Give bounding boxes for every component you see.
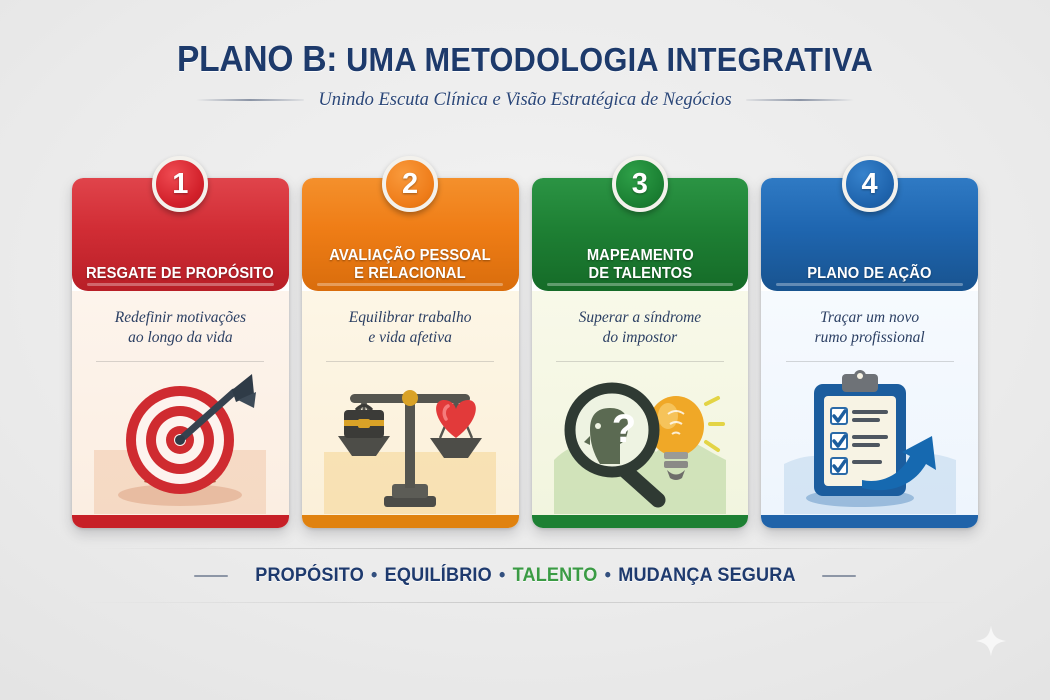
card-footer-bar-2 — [302, 515, 519, 528]
footer-keywords-row: PROPÓSITO • EQUILÍBRIO • TALENTO • MUDAN… — [194, 565, 857, 587]
footer-bullet-3: • — [602, 565, 612, 586]
page-title: PLANO B: UMA METODOLOGIA INTEGRATIVA — [37, 40, 1014, 78]
methodology-cards: 1 RESGATE DE PROPÓSITO Redefinir motivaç… — [72, 178, 978, 528]
card-inner: PLANO DE AÇÃO Traçar um novo rumo profis… — [761, 178, 978, 528]
footer-dash-right — [822, 575, 856, 577]
card-heading-2: AVALIAÇÃO PESSOAL E RELACIONAL — [324, 247, 497, 282]
footer-keyword-2: EQUILÍBRIO — [384, 565, 491, 586]
card-art-3: ? — [545, 362, 736, 515]
card-body-2: Equilibrar trabalho e vida afetiva — [302, 291, 519, 515]
magnifier-lightbulb-icon: ? — [554, 364, 726, 514]
infographic-footer: PROPÓSITO • EQUILÍBRIO • TALENTO • MUDAN… — [0, 548, 1050, 603]
card-heading-3: MAPEAMENTO DE TALENTOS — [581, 247, 699, 282]
card-description-1: Redefinir motivações ao longo da vida — [115, 308, 246, 350]
card-footer-bar-3 — [532, 515, 749, 528]
card-heading-4: PLANO DE AÇÃO — [802, 265, 938, 282]
card-footer-bar-1 — [72, 515, 289, 528]
card-inner: RESGATE DE PROPÓSITO Redefinir motivaçõe… — [72, 178, 289, 528]
card-art-1 — [85, 362, 276, 515]
footer-keywords: PROPÓSITO • EQUILÍBRIO • TALENTO • MUDAN… — [255, 565, 795, 587]
card-footer-bar-4 — [761, 515, 978, 528]
card-mapeamento-de-talentos[interactable]: 3 MAPEAMENTO DE TALENTOS Superar a síndr… — [532, 178, 749, 528]
card-inner: AVALIAÇÃO PESSOAL E RELACIONAL Equilibra… — [302, 178, 519, 528]
card-inner: MAPEAMENTO DE TALENTOS Superar a síndrom… — [532, 178, 749, 528]
step-badge-3: 3 — [612, 156, 668, 212]
card-heading-1: RESGATE DE PROPÓSITO — [81, 265, 280, 282]
balance-scale-icon — [324, 364, 496, 514]
footer-separator-top — [85, 548, 965, 549]
footer-separator-bottom — [85, 602, 965, 603]
card-body-3: Superar a síndrome do impostor — [532, 291, 749, 515]
page-title-rest: UMA METODOLOGIA INTEGRATIVA — [346, 41, 873, 78]
card-plano-de-acao[interactable]: 4 PLANO DE AÇÃO Traçar um novo rumo prof… — [761, 178, 978, 528]
card-description-3: Superar a síndrome do impostor — [579, 308, 702, 350]
card-description-4: Traçar um novo rumo profissional — [815, 308, 925, 350]
footer-keyword-3: TALENTO — [512, 565, 597, 586]
page-subtitle: Unindo Escuta Clínica e Visão Estratégic… — [318, 90, 731, 111]
infographic-header: PLANO B: UMA METODOLOGIA INTEGRATIVA Uni… — [0, 40, 1050, 111]
step-badge-4: 4 — [842, 156, 898, 212]
step-badge-2: 2 — [382, 156, 438, 212]
card-description-2: Equilibrar trabalho e vida afetiva — [349, 308, 472, 350]
subtitle-rule-right — [746, 99, 854, 101]
card-body-1: Redefinir motivações ao longo da vida — [72, 291, 289, 515]
subtitle-rule-left — [196, 99, 304, 101]
subtitle-row: Unindo Escuta Clínica e Visão Estratégic… — [0, 90, 1050, 111]
step-badge-1: 1 — [152, 156, 208, 212]
page-title-lead: PLANO B: — [177, 38, 337, 79]
card-resgate-de-proposito[interactable]: 1 RESGATE DE PROPÓSITO Redefinir motivaç… — [72, 178, 289, 528]
card-body-4: Traçar um novo rumo profissional — [761, 291, 978, 515]
footer-dash-left — [194, 575, 228, 577]
footer-keyword-1: PROPÓSITO — [255, 565, 364, 586]
footer-bullet-1: • — [369, 565, 379, 586]
clipboard-arrow-icon — [784, 364, 956, 514]
target-arrow-icon — [94, 364, 266, 514]
footer-bullet-2: • — [497, 565, 507, 586]
svg-text:?: ? — [612, 407, 636, 451]
card-avaliacao-pessoal-e-relacional[interactable]: 2 AVALIAÇÃO PESSOAL E RELACIONAL Equilib… — [302, 178, 519, 528]
card-art-4 — [774, 362, 965, 515]
card-art-2 — [315, 362, 506, 515]
footer-keyword-4: MUDANÇA SEGURA — [618, 565, 795, 586]
sparkle-icon — [974, 624, 1008, 658]
